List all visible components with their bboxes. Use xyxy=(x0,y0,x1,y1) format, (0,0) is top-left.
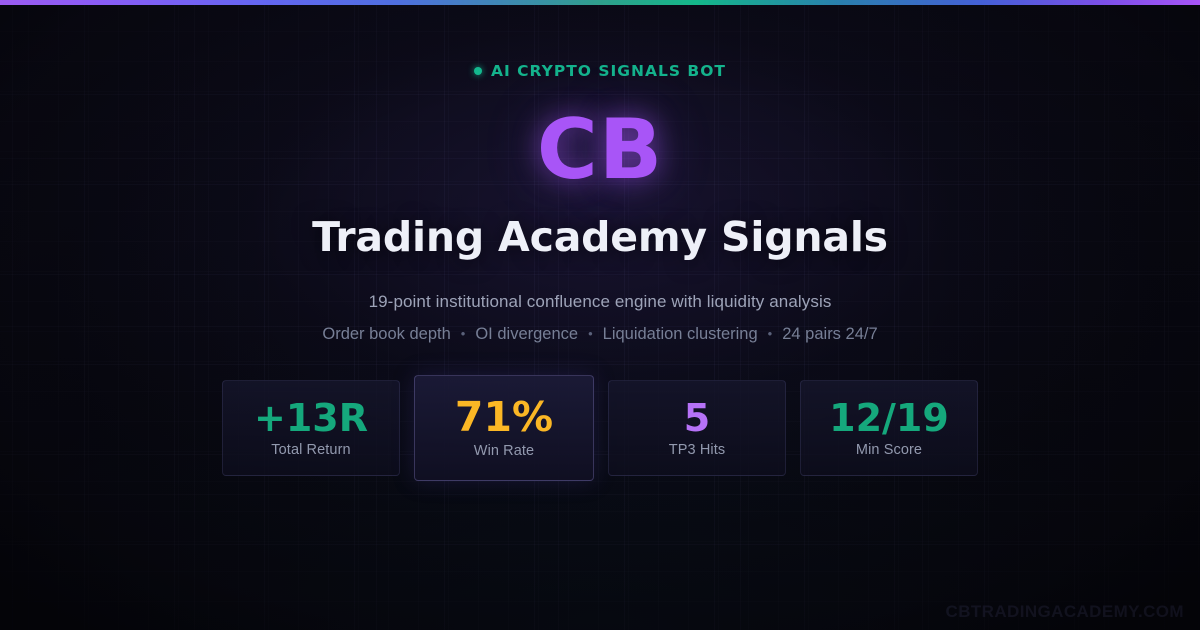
feature-item-2: OI divergence xyxy=(475,325,578,344)
stat-label-min-score: Min Score xyxy=(856,442,922,458)
page-title: Trading Academy Signals xyxy=(312,217,888,258)
stat-value-total-return: +13R xyxy=(254,399,368,437)
feature-separator-icon: • xyxy=(768,326,773,341)
stats-row: +13R Total Return 71% Win Rate 5 TP3 Hit… xyxy=(222,375,978,481)
stat-card-min-score: 12/19 Min Score xyxy=(800,380,978,476)
stat-label-total-return: Total Return xyxy=(271,442,350,458)
status-dot-icon xyxy=(474,67,482,75)
stat-value-tp3-hits: 5 xyxy=(684,399,710,437)
feature-separator-icon: • xyxy=(461,326,466,341)
feature-separator-icon: • xyxy=(588,326,593,341)
stat-card-total-return: +13R Total Return xyxy=(222,380,400,476)
feature-item-1: Order book depth xyxy=(322,325,450,344)
stat-value-win-rate: 71% xyxy=(455,397,553,438)
brand-logo-cb: CB xyxy=(537,108,663,191)
badge-label: AI CRYPTO SIGNALS BOT xyxy=(491,62,726,80)
hero-content: AI CRYPTO SIGNALS BOT CB Trading Academy… xyxy=(0,0,1200,630)
feature-item-4: 24 pairs 24/7 xyxy=(782,325,877,344)
site-watermark: CBTRADINGACADEMY.COM xyxy=(946,602,1184,622)
stat-card-tp3-hits: 5 TP3 Hits xyxy=(608,380,786,476)
subtitle-description: 19-point institutional confluence engine… xyxy=(369,292,832,312)
stat-card-win-rate: 71% Win Rate xyxy=(414,375,594,481)
subtitle-feature-list: Order book depth • OI divergence • Liqui… xyxy=(322,325,877,344)
feature-item-3: Liquidation clustering xyxy=(603,325,758,344)
stat-value-min-score: 12/19 xyxy=(829,399,949,437)
badge-ai-crypto-signals-bot: AI CRYPTO SIGNALS BOT xyxy=(474,62,726,80)
stat-label-tp3-hits: TP3 Hits xyxy=(669,442,725,458)
stat-label-win-rate: Win Rate xyxy=(474,443,534,459)
